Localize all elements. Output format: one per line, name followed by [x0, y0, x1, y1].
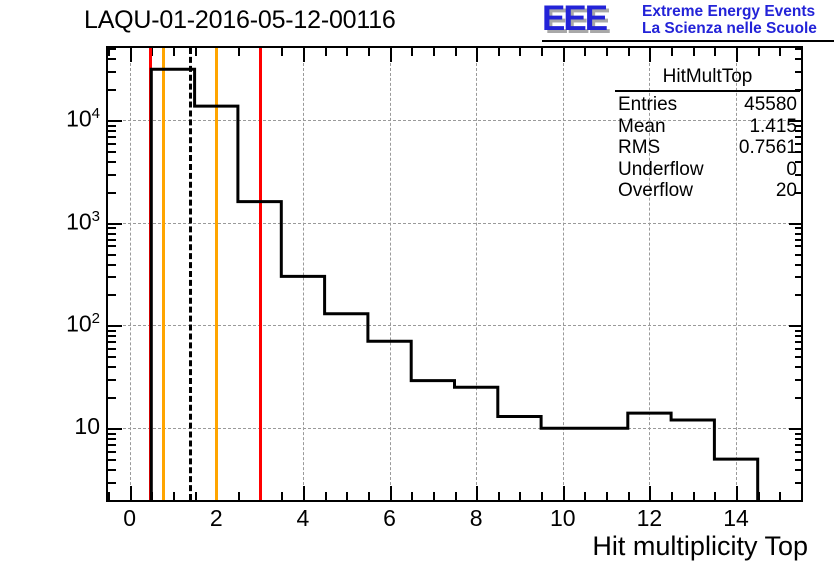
stats-row-value: 0 — [786, 159, 797, 181]
root-canvas: LAQU-01-2016-05-12-00116 EEE Extreme Ene… — [0, 0, 836, 572]
stats-title: HitMultTop — [615, 66, 800, 89]
stats-row-key: Mean — [618, 116, 666, 138]
stats-divider — [615, 90, 800, 92]
stats-row-value: 0.7561 — [739, 137, 797, 159]
stats-row: Mean1.415 — [615, 116, 800, 138]
stats-row-key: Overflow — [618, 180, 693, 202]
stats-row: Overflow20 — [615, 180, 800, 202]
stats-row: Entries45580 — [615, 94, 800, 116]
stats-row: Underflow0 — [615, 159, 800, 181]
stats-row-key: Entries — [618, 94, 677, 116]
x-axis-title: Hit multiplicity Top — [592, 531, 808, 562]
stats-row-value: 1.415 — [749, 116, 797, 138]
stats-row-key: RMS — [618, 137, 660, 159]
stats-row: RMS0.7561 — [615, 137, 800, 159]
stats-box: HitMultTop Entries45580Mean1.415RMS0.756… — [615, 66, 800, 202]
stats-row-value: 45580 — [744, 94, 797, 116]
stats-row-key: Underflow — [618, 159, 704, 181]
stats-row-value: 20 — [776, 180, 797, 202]
